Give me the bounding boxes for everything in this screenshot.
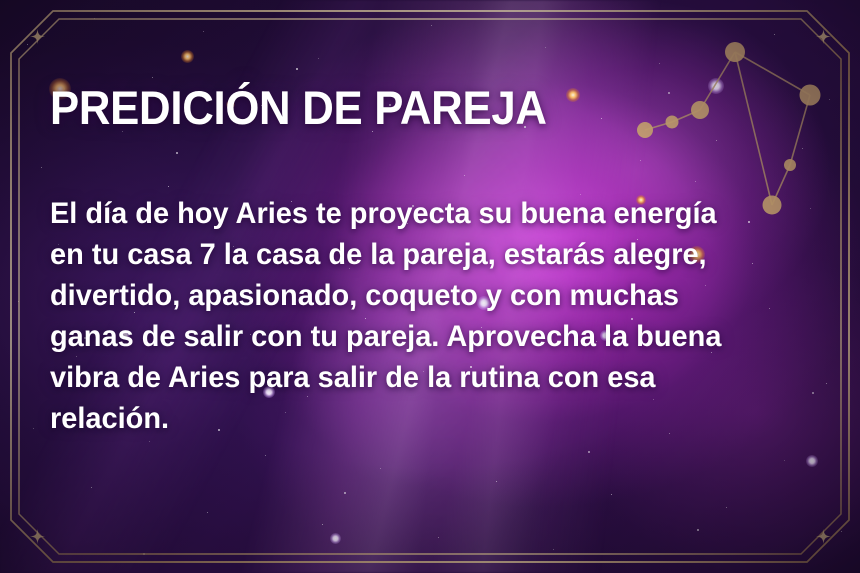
horoscope-card: PREDICIÓN DE PAREJA El día de hoy Aries … [0,0,860,573]
card-content: PREDICIÓN DE PAREJA El día de hoy Aries … [50,84,818,439]
prediction-line-4: ganas de salir con tu pareja. Aprovecha … [50,316,793,357]
prediction-line-5: vibra de Aries para salir de la rutina c… [50,357,793,398]
prediction-body-text: El día de hoy Aries te proyecta su buena… [50,131,793,439]
prediction-line-1: El día de hoy Aries te proyecta su buena… [50,193,793,234]
page-title: PREDICIÓN DE PAREJA [50,84,764,131]
prediction-line-2: en tu casa 7 la casa de la pareja, estar… [50,234,793,275]
prediction-line-3: divertido, apasionado, coqueto y con muc… [50,275,793,316]
prediction-line-6: relación. [50,398,793,439]
